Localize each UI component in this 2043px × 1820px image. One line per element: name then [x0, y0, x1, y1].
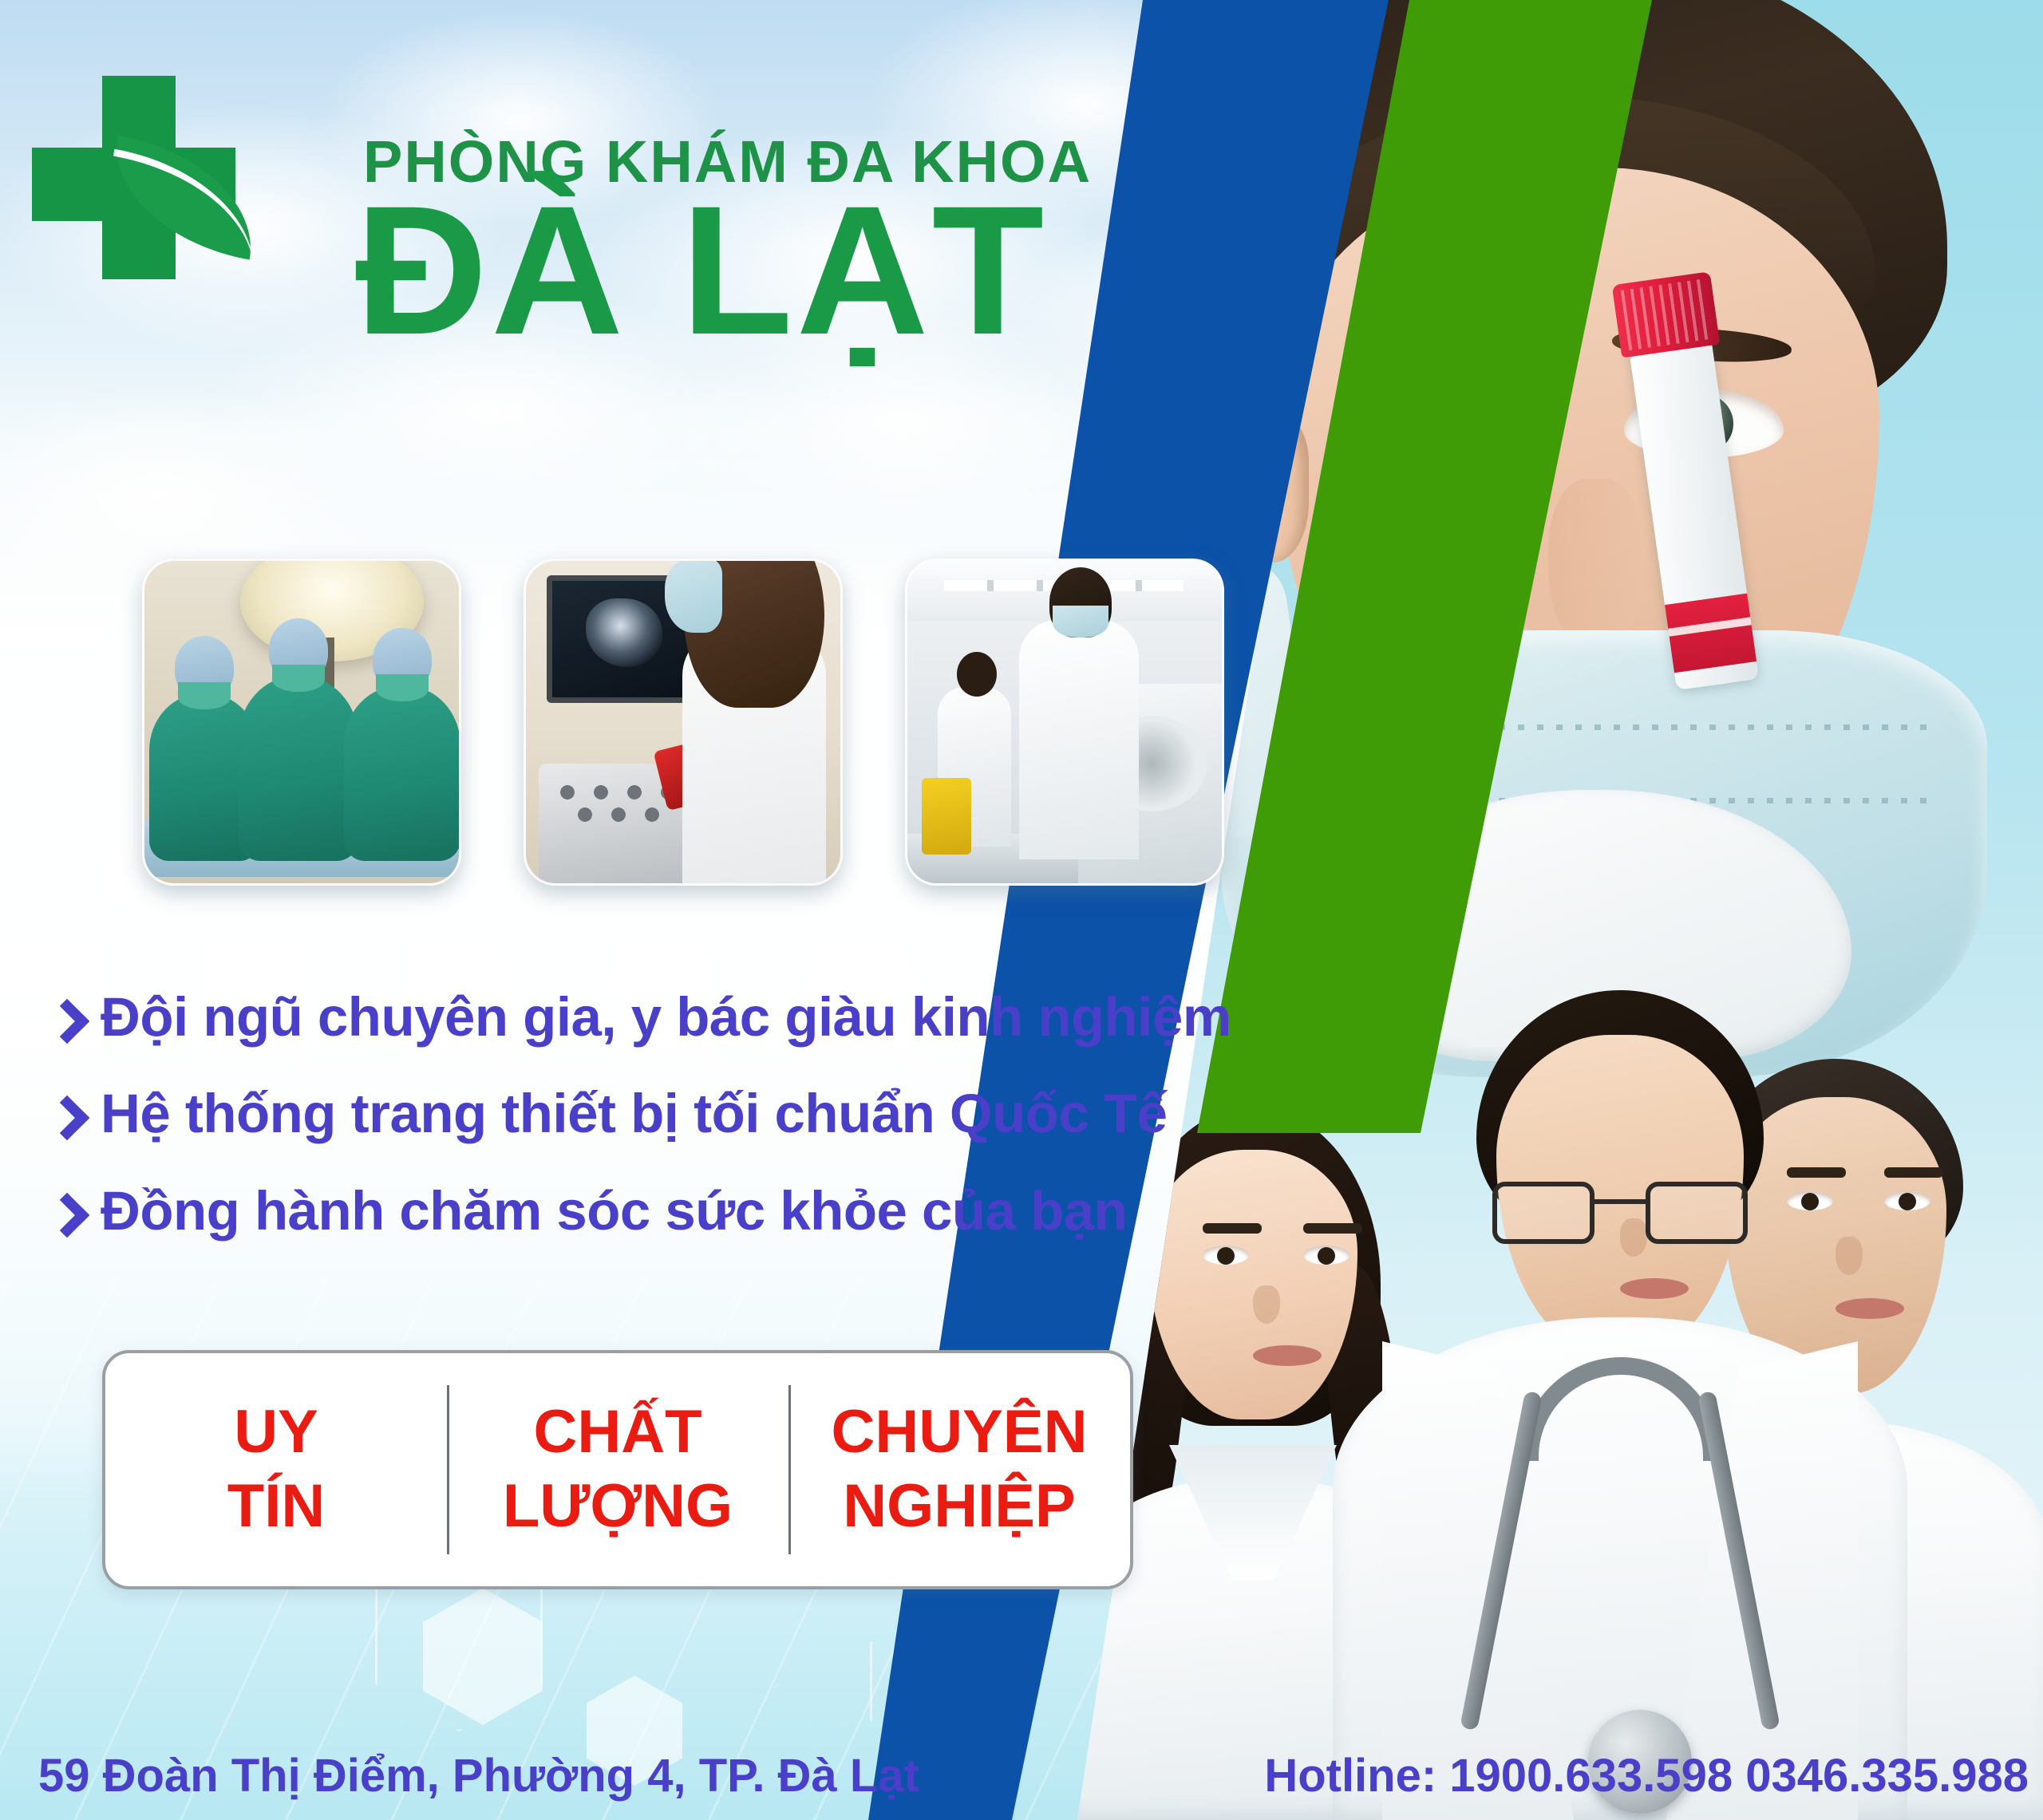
coat-lapel	[1382, 1341, 1574, 1820]
list-item: Đồng hành chăm sóc sức khỏe của bạn	[41, 1180, 1127, 1242]
badge-chuyen-nghiep: CHUYÊN NGHIỆP	[788, 1353, 1130, 1586]
badge-line-1: CHẤT	[533, 1396, 701, 1470]
bullet-text: Đội ngũ chuyên gia, y bác giàu kinh nghi…	[101, 986, 1231, 1048]
clinic-address: 59 Đoàn Thị Điểm, Phường 4, TP. Đà Lạt	[38, 1749, 919, 1802]
surgical-mask-icon	[665, 559, 722, 633]
chevron-right-icon	[41, 1001, 85, 1044]
mouth-shape	[1253, 1345, 1322, 1366]
clinic-advertisement-banner: PHÒNG KHÁM ĐA KHOA ĐÀ LẠT	[0, 0, 2043, 1820]
photo-gallery	[142, 559, 1224, 886]
surgeon-figure	[239, 676, 358, 861]
nose-shape	[1253, 1285, 1280, 1324]
bullet-text: Đồng hành chăm sóc sức khỏe của bạn	[101, 1180, 1127, 1242]
eyebrow-shape	[1203, 1223, 1262, 1234]
clinic-name: ĐÀ LẠT	[355, 172, 1047, 369]
operating-room-photo	[142, 559, 461, 886]
pupil	[1217, 1247, 1235, 1265]
badge-line-1: CHUYÊN	[832, 1396, 1088, 1470]
clinic-hotline[interactable]: Hotline: 1900.633.598 0346.335.988	[1264, 1749, 2029, 1802]
chevron-right-icon	[41, 1097, 85, 1140]
badge-line-2: NGHIỆP	[843, 1470, 1075, 1544]
biohazard-bin	[922, 778, 971, 855]
glasses-bridge	[1594, 1199, 1646, 1204]
test-tube-label	[1665, 594, 1757, 673]
laboratory-photo	[905, 559, 1224, 886]
badge-line-2: TÍN	[227, 1470, 325, 1544]
mouth-shape	[1620, 1278, 1689, 1299]
badge-line-2: LƯỢNG	[503, 1470, 733, 1544]
white-coat	[1333, 1317, 1907, 1820]
badge-line-1: UY	[234, 1396, 318, 1470]
test-tube-cap	[1612, 271, 1721, 357]
lab-technician-figure	[1019, 620, 1139, 859]
feature-bullet-list: Đội ngũ chuyên gia, y bác giàu kinh nghi…	[41, 986, 1127, 1277]
technician-figure	[682, 628, 826, 883]
badge-chat-luong: CHẤT LƯỢNG	[447, 1353, 788, 1586]
bullet-text: Hệ thống trang thiết bị tối chuẩn Quốc T…	[101, 1083, 1167, 1144]
list-item: Đội ngũ chuyên gia, y bác giàu kinh nghi…	[41, 986, 1127, 1048]
surgeon-figure	[344, 685, 460, 861]
glasses-lens	[1646, 1182, 1748, 1244]
ultrasound-room-photo	[524, 559, 843, 886]
glasses-lens	[1492, 1182, 1594, 1244]
list-item: Hệ thống trang thiết bị tối chuẩn Quốc T…	[41, 1083, 1127, 1144]
technician-nose	[1548, 479, 1644, 654]
quality-badge-box: UY TÍN CHẤT LƯỢNG CHUYÊN NGHIỆP	[102, 1350, 1133, 1589]
chevron-right-icon	[41, 1194, 85, 1238]
medical-cross-leaf-logo	[32, 76, 239, 283]
badge-uy-tin: UY TÍN	[105, 1353, 447, 1586]
eyeglasses-icon	[1492, 1182, 1748, 1244]
coat-lapel	[1666, 1341, 1858, 1820]
